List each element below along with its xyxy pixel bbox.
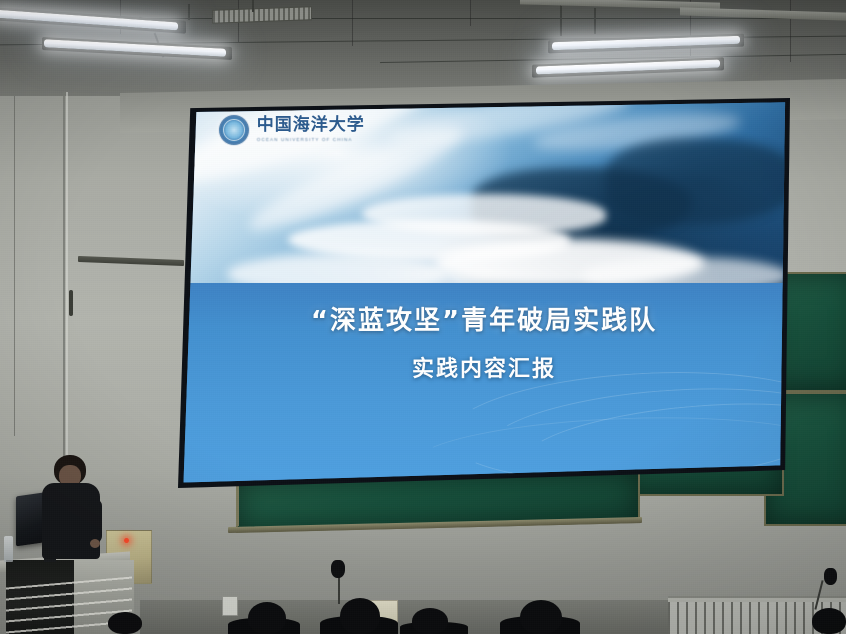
water-bottle [4, 536, 13, 562]
presenter-hand [90, 539, 100, 548]
audience-head-3 [412, 608, 448, 634]
ceiling-microphone [331, 560, 345, 578]
slide-title: “深蓝攻坚”青年破局实践队 [178, 300, 790, 337]
audience-head-1 [248, 602, 286, 634]
side-microphone [824, 568, 837, 585]
presenter [38, 455, 108, 575]
university-logo-block: 中国海洋大学 OCEAN UNIVERSITY OF CHINA [218, 114, 365, 146]
presentation-slide: 中国海洋大学 OCEAN UNIVERSITY OF CHINA “深蓝攻坚”青… [178, 98, 790, 488]
audience-head-5 [108, 612, 142, 634]
audience-head-2 [340, 598, 380, 634]
screen-display-area: 中国海洋大学 OCEAN UNIVERSITY OF CHINA “深蓝攻坚”青… [178, 98, 790, 488]
audience-head-6 [812, 608, 846, 634]
ceiling-air-vent [212, 6, 312, 23]
slide-hero-image: 中国海洋大学 OCEAN UNIVERSITY OF CHINA [178, 98, 790, 283]
university-seal-icon [218, 114, 250, 146]
slide-subtitle: 实践内容汇报 [178, 351, 790, 383]
wall-outlet[interactable] [222, 596, 238, 616]
projection-screen[interactable]: 中国海洋大学 OCEAN UNIVERSITY OF CHINA “深蓝攻坚”青… [178, 98, 790, 488]
lecture-hall-photo: 中国海洋大学 OCEAN UNIVERSITY OF CHINA “深蓝攻坚”青… [0, 0, 846, 634]
wall-door-handle[interactable] [69, 290, 73, 316]
audience-head-4 [520, 600, 562, 634]
slide-title-band: “深蓝攻坚”青年破局实践队 实践内容汇报 [178, 283, 790, 488]
presenter-arm [88, 499, 102, 543]
university-name-cn: 中国海洋大学 [257, 117, 365, 134]
university-name-en: OCEAN UNIVERSITY OF CHINA [257, 138, 365, 143]
equipment-power-led [124, 538, 129, 543]
wall-panel-edge [14, 96, 15, 436]
